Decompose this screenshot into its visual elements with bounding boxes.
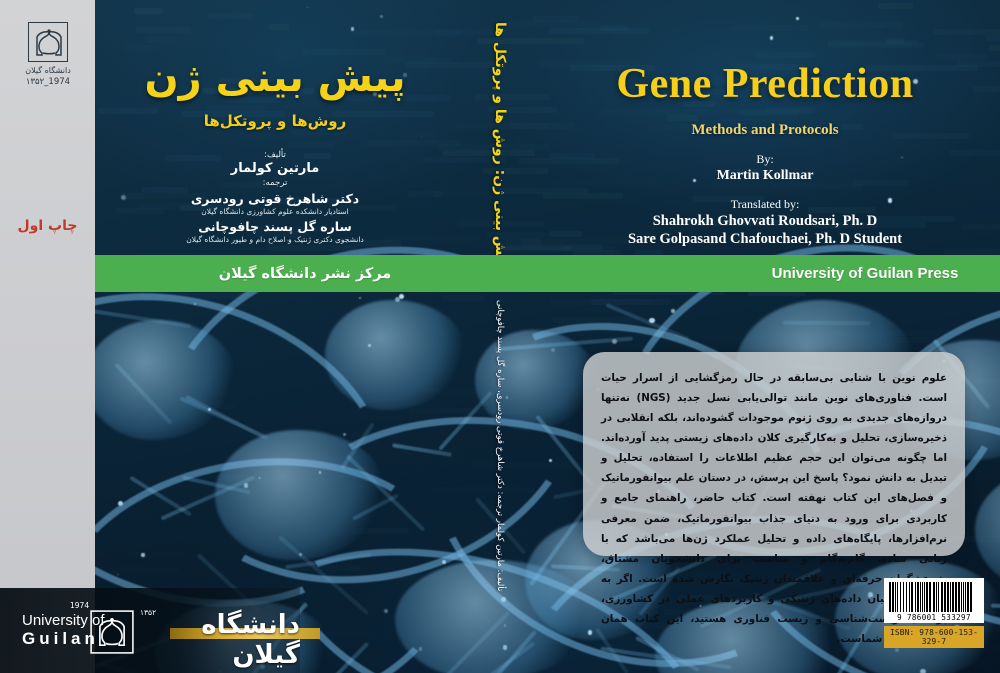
english-author-name: Martin Kollmar bbox=[530, 168, 1000, 184]
crest-svg bbox=[29, 23, 69, 63]
barcode-bars bbox=[889, 582, 979, 612]
persian-cover-panel: پیش بینی ژن روش‌ها و پروتکل‌ها تألیف: ما… bbox=[95, 0, 470, 255]
spine-credits: تألیف: مارتین کولمار ترجمه: دکتر شاهرخ ق… bbox=[495, 300, 505, 591]
isbn-label: ISBN: 978-600-153-329-7 bbox=[884, 626, 984, 648]
english-translator-2: Sare Golpasand Chafouchaei, Ph. D Studen… bbox=[530, 231, 1000, 248]
persian-credits: تألیف: مارتین کولمار ترجمه: دکتر شاهرخ ق… bbox=[120, 148, 430, 244]
university-lockup: 1974 University of Guilan ۱۳۵۲ دانشگاه گ… bbox=[0, 588, 300, 673]
persian-translator-label: ترجمه: bbox=[120, 178, 430, 188]
persian-translator-2: ساره گل پسند چافوچانی bbox=[120, 219, 430, 234]
english-title: Gene Prediction bbox=[530, 60, 1000, 108]
persian-author-name: مارتین کولمار bbox=[120, 161, 430, 176]
ean-barcode: 9 786001 533297 bbox=[884, 578, 984, 623]
barcode-block: 9 786001 533297 ISBN: 978-600-153-329-7 bbox=[884, 578, 984, 648]
lockup-year-en: 1974 bbox=[70, 601, 89, 610]
persian-author-label: تألیف: bbox=[120, 150, 430, 160]
persian-translator-1: دکتر شاهرخ قوتی رودسری bbox=[120, 191, 430, 206]
lockup-persian-name: دانشگاه گیلان bbox=[132, 610, 300, 670]
english-by-label: By: bbox=[530, 152, 1000, 167]
english-cover-panel: Gene Prediction Methods and Protocols By… bbox=[530, 0, 1000, 255]
edition-label: چاپ اول bbox=[0, 218, 95, 234]
spine-title: پیش بینی ژن: روش ها و پروتکل ها bbox=[492, 22, 508, 267]
english-translator-1: Shahrokh Ghovvati Roudsari, Ph. D bbox=[530, 213, 1000, 230]
barcode-digits: 9 786001 533297 bbox=[889, 613, 979, 622]
persian-subtitle: روش‌ها و پروتکل‌ها bbox=[120, 112, 430, 130]
back-cover-blurb: علوم نوین با شتابی بی‌سابقه در حال رمزگش… bbox=[583, 352, 965, 556]
left-flap: دانشگاه گیلان ۱۳۵۲_1974 چاپ اول bbox=[0, 0, 95, 673]
book-spine: پیش بینی ژن: روش ها و پروتکل ها تألیف: م… bbox=[470, 0, 530, 673]
flap-logo-year: ۱۳۵۲_1974 bbox=[17, 77, 79, 87]
persian-translator-2-affiliation: دانشجوی دکتری ژنتیک و اصلاح دام و طیور د… bbox=[120, 235, 430, 244]
english-subtitle: Methods and Protocols bbox=[530, 122, 1000, 139]
persian-title: پیش بینی ژن bbox=[120, 55, 430, 101]
publisher-name-en: University of Guilan Press bbox=[655, 265, 1000, 282]
flap-university-logo: دانشگاه گیلان ۱۳۵۲_1974 bbox=[17, 22, 79, 87]
publisher-name-fa: مرکز نشر دانشگاه گیلان bbox=[95, 266, 515, 282]
lockup-crest-icon bbox=[90, 610, 134, 658]
english-translated-label: Translated by: bbox=[530, 197, 1000, 212]
flap-logo-name: دانشگاه گیلان bbox=[17, 66, 79, 75]
crest-svg-white bbox=[90, 610, 134, 654]
publisher-band: مرکز نشر دانشگاه گیلان University of Gui… bbox=[95, 255, 1000, 292]
university-of-guilan-crest-icon bbox=[28, 22, 68, 62]
persian-translator-1-affiliation: استادیار دانشکده علوم کشاورزی دانشگاه گی… bbox=[120, 207, 430, 216]
book-cover-spread: دانشگاه گیلان ۱۳۵۲_1974 چاپ اول پیش بینی… bbox=[0, 0, 1000, 673]
